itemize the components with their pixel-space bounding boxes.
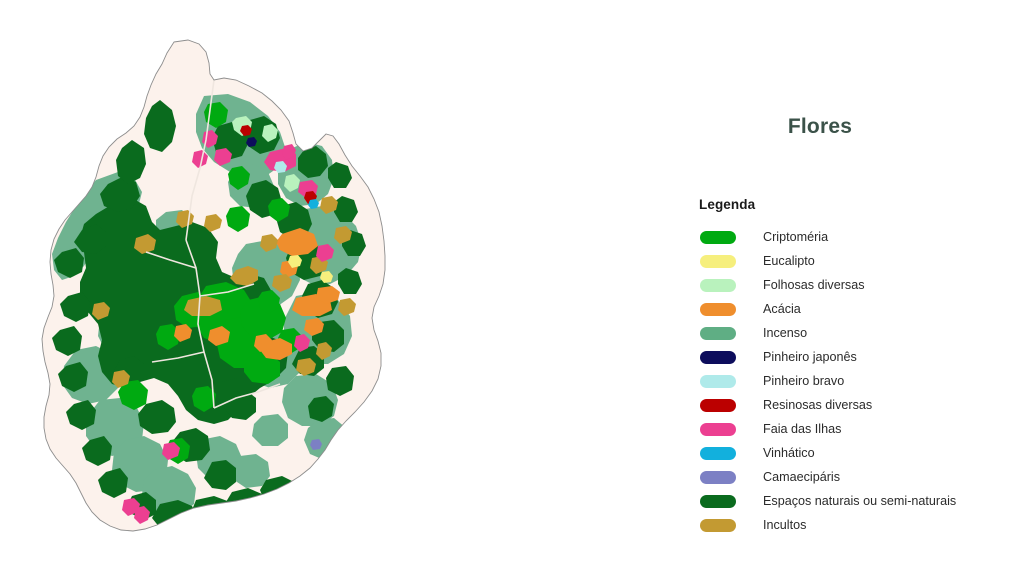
legend-swatch-icon xyxy=(700,279,736,292)
map-canvas[interactable] xyxy=(0,0,660,576)
legend-item-criptomeria[interactable]: Criptoméria xyxy=(699,225,1019,249)
legend-item-folhosas-diversas[interactable]: Folhosas diversas xyxy=(699,273,1019,297)
legend-swatch-icon xyxy=(700,423,736,436)
legend-item-label: Acácia xyxy=(763,303,801,316)
legend-item-acacia[interactable]: Acácia xyxy=(699,297,1019,321)
legend-item-eucalipto[interactable]: Eucalipto xyxy=(699,249,1019,273)
flores-land-cover-map[interactable] xyxy=(0,0,660,576)
map-page: Flores Legenda Criptoméria Eucalipto Fol… xyxy=(0,0,1024,576)
legend-swatch-icon xyxy=(700,471,736,484)
legend-swatch-icon xyxy=(700,351,736,364)
legend-swatch-icon xyxy=(700,375,736,388)
legend-item-incenso[interactable]: Incenso xyxy=(699,321,1019,345)
land-cover-layer xyxy=(52,80,366,532)
legend-item-resinosas-diversas[interactable]: Resinosas diversas xyxy=(699,393,1019,417)
legend-item-label: Camaecipáris xyxy=(763,471,840,484)
legend-item-vinhatico[interactable]: Vinhático xyxy=(699,441,1019,465)
legend-swatch-icon xyxy=(700,399,736,412)
legend-swatch-icon xyxy=(700,255,736,268)
legend-item-label: Eucalipto xyxy=(763,255,815,268)
legend-title: Legenda xyxy=(699,197,1019,212)
legend-item-pinheiro-bravo[interactable]: Pinheiro bravo xyxy=(699,369,1019,393)
legend-item-label: Incenso xyxy=(763,327,807,340)
legend-panel: Flores Legenda Criptoméria Eucalipto Fol… xyxy=(660,0,1024,576)
legend-item-camaeciparis[interactable]: Camaecipáris xyxy=(699,465,1019,489)
legend-item-label: Folhosas diversas xyxy=(763,279,865,292)
legend-item-faia-das-ilhas[interactable]: Faia das Ilhas xyxy=(699,417,1019,441)
legend-swatch-icon xyxy=(700,495,736,508)
legend-swatch-icon xyxy=(700,231,736,244)
legend-item-incultos[interactable]: Incultos xyxy=(699,513,1019,537)
legend: Legenda Criptoméria Eucalipto Folhosas d… xyxy=(699,197,1019,537)
page-title: Flores xyxy=(660,115,980,139)
legend-item-label: Espaços naturais ou semi-naturais xyxy=(763,495,956,508)
legend-item-label: Pinheiro japonês xyxy=(763,351,857,364)
legend-item-label: Incultos xyxy=(763,519,806,532)
legend-item-label: Pinheiro bravo xyxy=(763,375,844,388)
legend-item-label: Faia das Ilhas xyxy=(763,423,841,436)
legend-swatch-icon xyxy=(700,303,736,316)
legend-swatch-icon xyxy=(700,519,736,532)
legend-swatch-icon xyxy=(700,447,736,460)
legend-item-pinheiro-japones[interactable]: Pinheiro japonês xyxy=(699,345,1019,369)
legend-item-label: Criptoméria xyxy=(763,231,828,244)
legend-item-label: Vinhático xyxy=(763,447,815,460)
legend-item-label: Resinosas diversas xyxy=(763,399,872,412)
legend-swatch-icon xyxy=(700,327,736,340)
legend-item-espacos-naturais[interactable]: Espaços naturais ou semi-naturais xyxy=(699,489,1019,513)
